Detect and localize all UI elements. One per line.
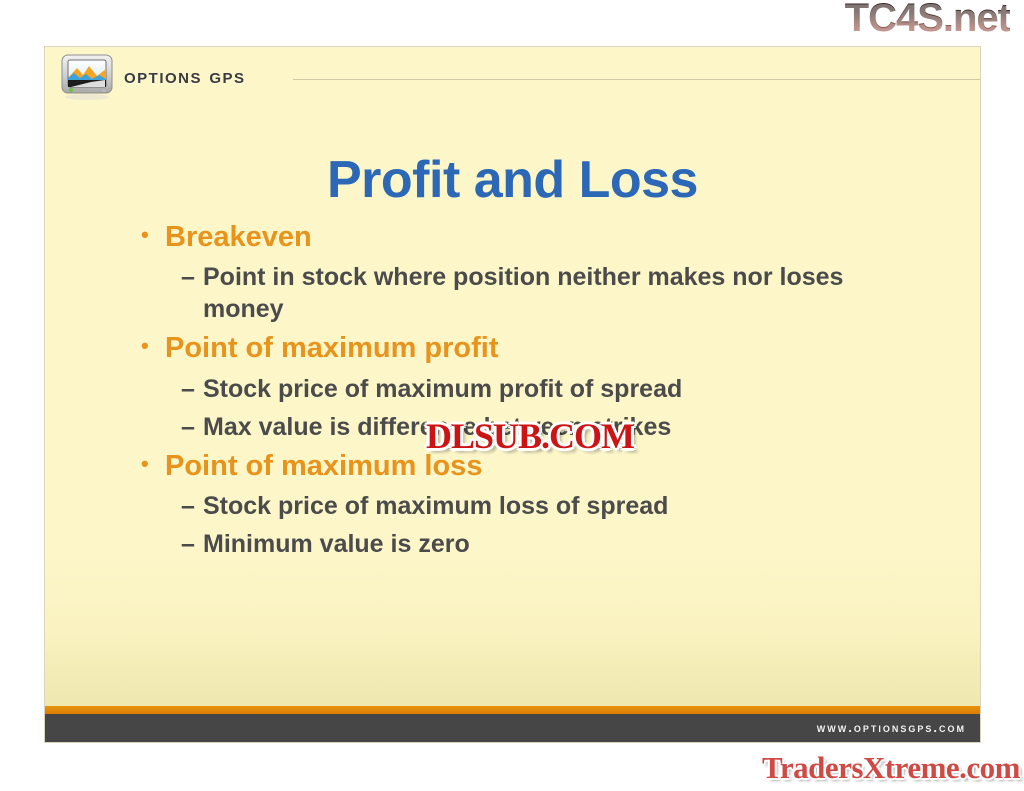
bullet-level2: – Stock price of maximum loss of spread [181, 490, 940, 522]
bullet-level1-label: Point of maximum profit [165, 331, 940, 366]
bullet-group: • Point of maximum loss – Stock price of… [141, 449, 940, 560]
bullet-dash-icon: – [181, 411, 203, 443]
bullet-dot-icon: • [141, 449, 165, 478]
bullet-dash-icon: – [181, 528, 203, 560]
bullet-level2: – Point in stock where position neither … [181, 261, 940, 325]
footer-url-label: www.OptionsGPS.com [817, 720, 966, 735]
bullet-level2-label: Stock price of maximum loss of spread [203, 490, 903, 522]
bullet-dot-icon: • [141, 220, 165, 249]
bullet-level2: – Stock price of maximum profit of sprea… [181, 373, 940, 405]
bullet-dash-icon: – [181, 261, 203, 293]
bullet-dash-icon: – [181, 373, 203, 405]
bullet-level2: – Minimum value is zero [181, 528, 940, 560]
dlsub-watermark: DLSUB.COM [420, 416, 640, 456]
bullet-level2-label: Minimum value is zero [203, 528, 903, 560]
tc4s-watermark: TC4S.net [845, 0, 1010, 38]
slide-title: Profit and Loss [45, 154, 980, 206]
header-divider [293, 79, 980, 80]
bullet-group: • Breakeven – Point in stock where posit… [141, 220, 940, 325]
bullet-level2-label: Stock price of maximum profit of spread [203, 373, 903, 405]
slide-body: • Breakeven – Point in stock where posit… [141, 220, 940, 566]
bullet-dot-icon: • [141, 331, 165, 360]
bullet-dash-icon: – [181, 490, 203, 522]
bullet-level1: • Point of maximum profit [141, 331, 940, 366]
bullet-level2-label: Point in stock where position neither ma… [203, 261, 903, 325]
slide-header: Options GPS [45, 47, 980, 105]
brand-wordmark: Options GPS [124, 65, 246, 89]
footer-accent-stripe [45, 706, 980, 714]
gps-device-icon [61, 54, 117, 101]
bullet-level1: • Breakeven [141, 220, 940, 255]
bullet-level1-label: Breakeven [165, 220, 940, 255]
tradersxtreme-watermark: TradersXtreme.com [762, 752, 1020, 783]
slide-footer: www.OptionsGPS.com [45, 714, 980, 742]
presentation-slide: Options GPS Profit and Loss • Breakeven … [44, 46, 981, 743]
